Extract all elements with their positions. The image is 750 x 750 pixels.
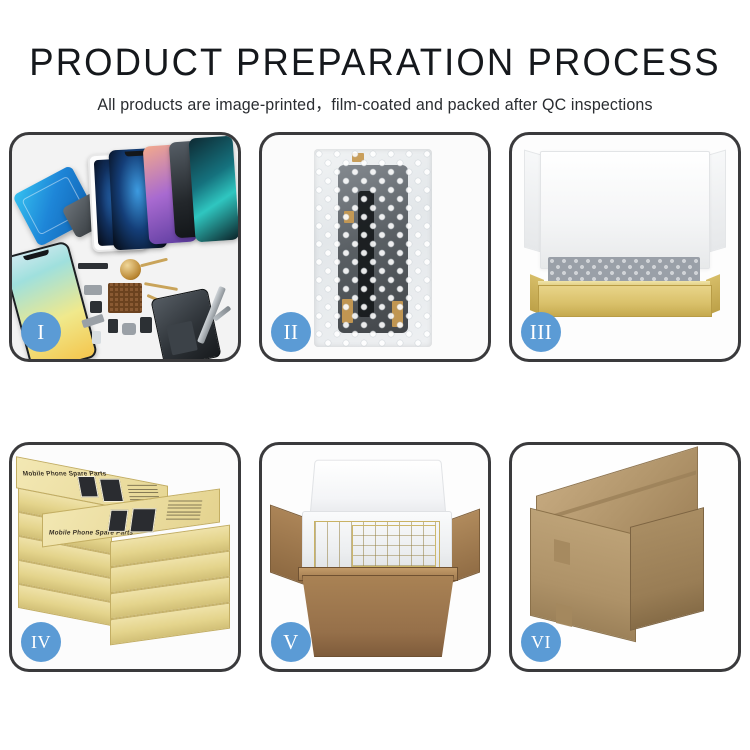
spare-part [140,317,152,333]
box-window-image [108,510,129,532]
spare-part [122,323,136,335]
box-window-image [129,508,156,532]
carton-side-face [630,507,704,631]
logic-board-part [108,283,142,313]
page-title: PRODUCT PREPARATION PROCESS [15,42,735,84]
step-badge-1: I [21,312,61,352]
spare-part [84,285,102,295]
flex-cable [140,258,168,268]
page-subtitle: All products are image-printed，film-coat… [11,95,739,115]
header: PRODUCT PREPARATION PROCESS All products… [0,0,750,115]
spare-part [92,331,101,344]
box-window-image [99,479,124,502]
spare-part [108,319,118,333]
step-card-2[interactable]: II [259,132,491,362]
step-card-3[interactable]: III [509,132,741,362]
yellow-boxes-row [352,525,436,567]
step-card-1[interactable]: I [9,132,241,362]
kraft-box-front [538,285,712,317]
step-badge-2: II [271,312,311,352]
product-preparation-infographic: PRODUCT PREPARATION PROCESS All products… [0,0,750,750]
step-card-4[interactable]: Mobile Phone Spare Parts Mobile Phone Sp… [9,442,241,672]
carton-body [302,575,454,657]
spare-part [78,263,108,269]
box-spec-lines [166,500,203,521]
box-window-image [77,476,99,497]
bubble-wrap-bag [314,149,432,347]
notch-icon [23,250,49,261]
step-badge-6: VI [521,622,561,662]
process-step-grid: I II [0,132,750,672]
spare-part [90,301,102,313]
step-card-5[interactable]: V [259,442,491,672]
vibration-motor-part [120,259,141,280]
tape-patch [556,603,572,627]
step-badge-4: IV [21,622,61,662]
phone-teal-wave [188,136,238,243]
bubble-texture [314,149,432,347]
step-card-6[interactable]: VI [509,442,741,672]
white-foam-lid [540,151,710,269]
tape-patch [554,539,570,565]
step-badge-5: V [271,622,311,662]
flex-cable [144,282,178,291]
step-badge-3: III [521,312,561,352]
